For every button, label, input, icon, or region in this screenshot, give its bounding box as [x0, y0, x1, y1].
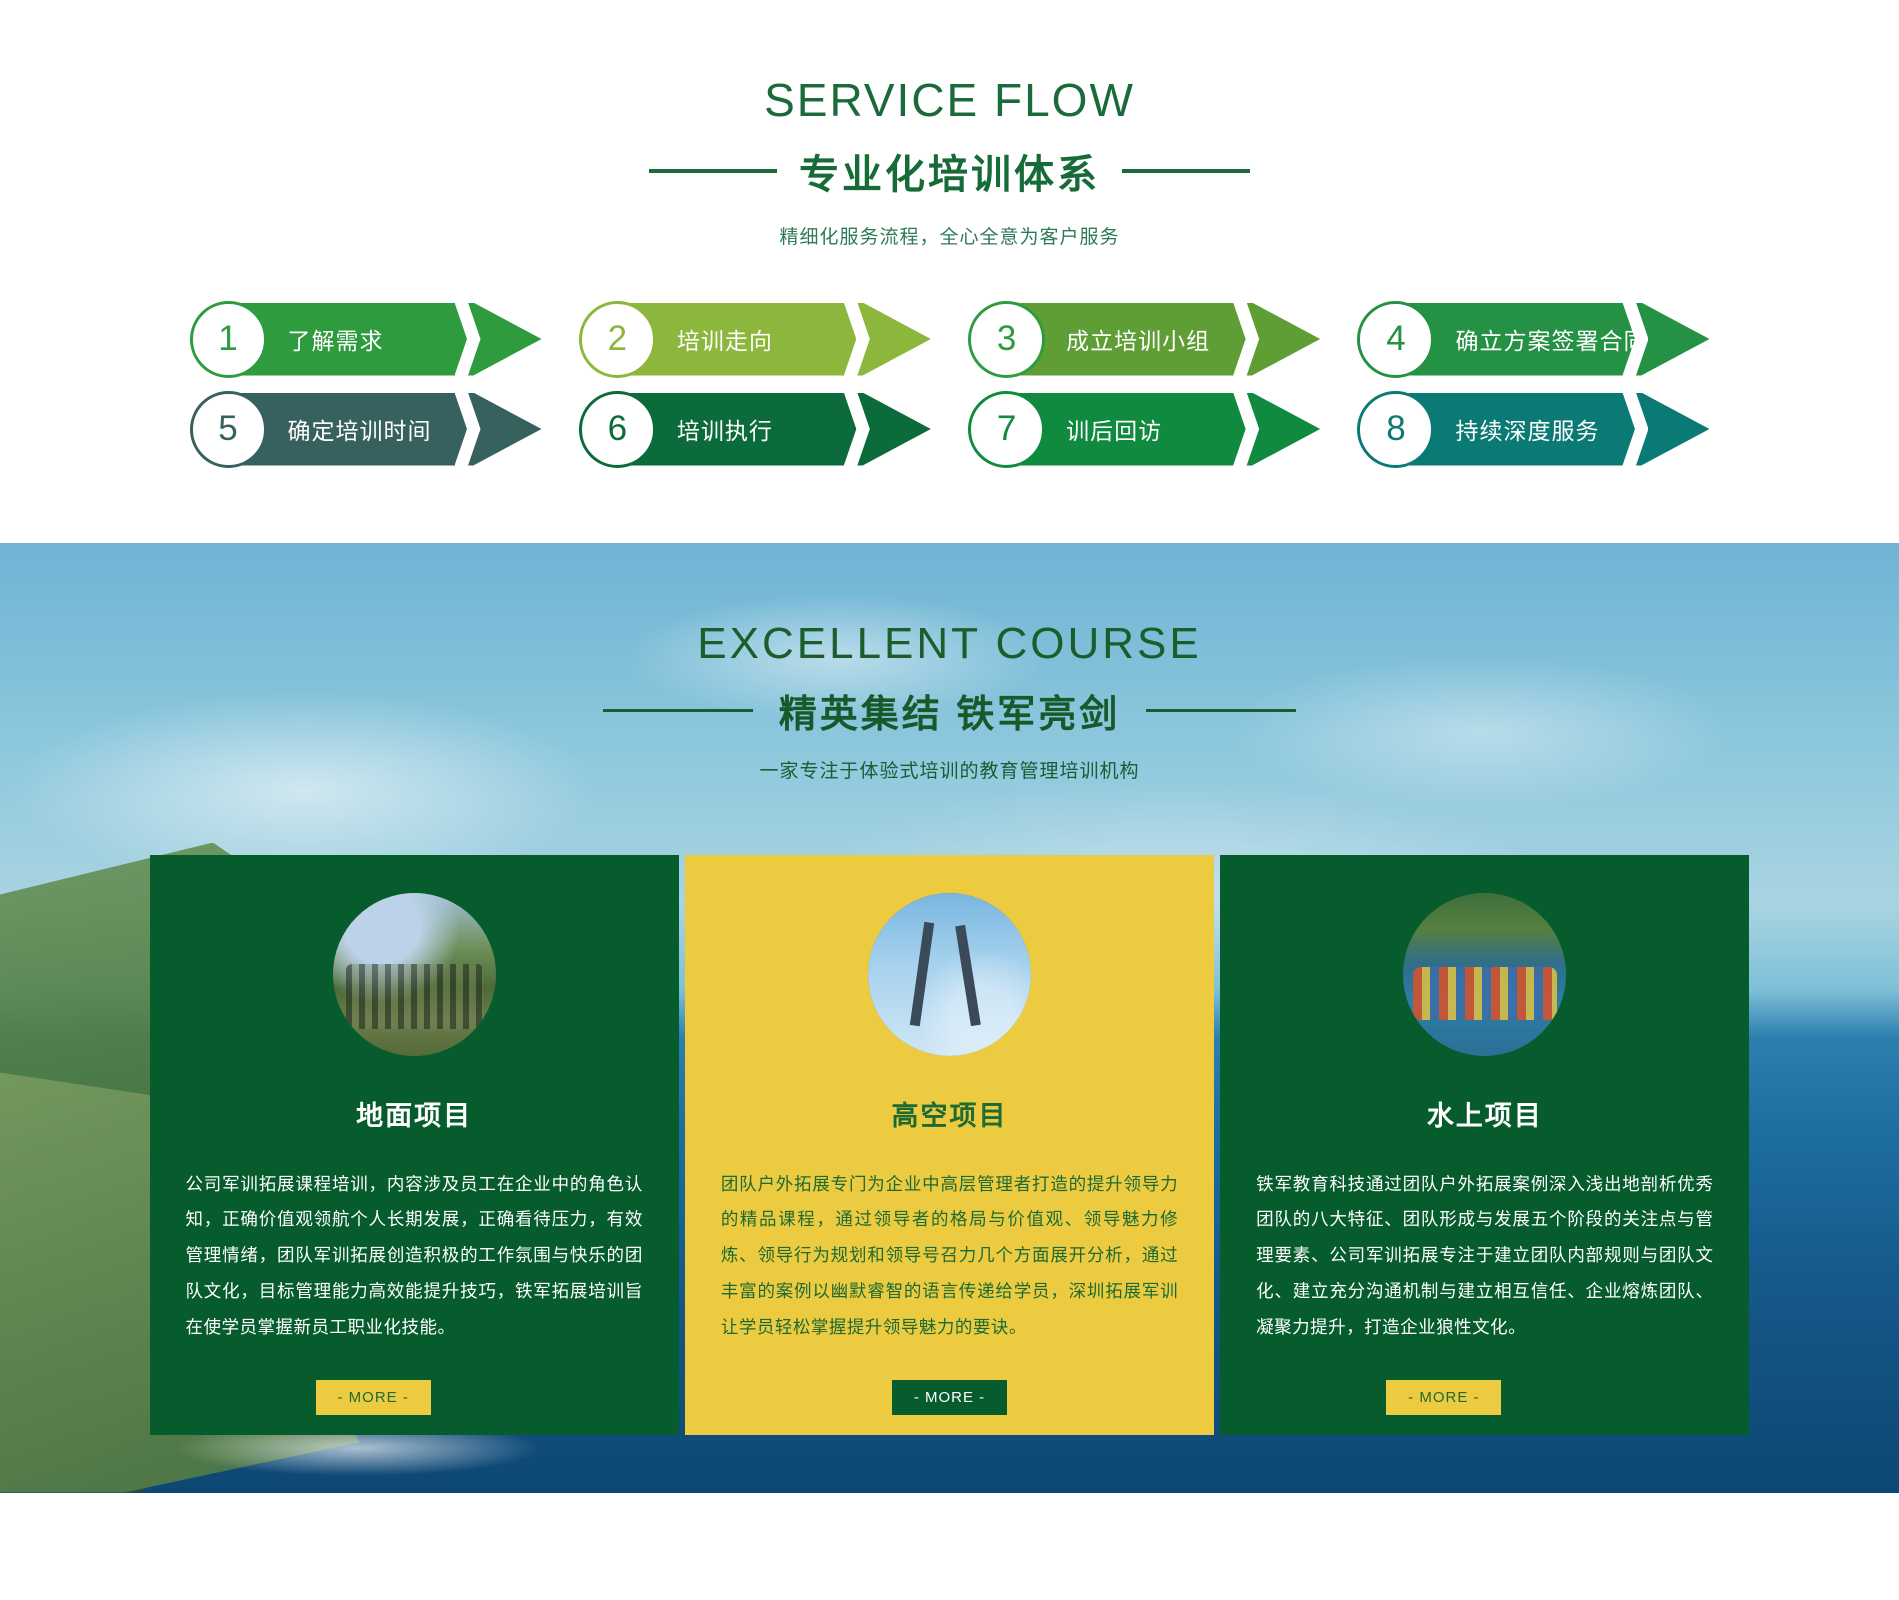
- process-step-6[interactable]: 6 培训执行: [579, 393, 931, 466]
- service-flow-section: SERVICE FLOW 专业化培训体系 精细化服务流程，全心全意为客户服务 1…: [0, 0, 1899, 543]
- step-number-badge: 4: [1357, 301, 1434, 378]
- card-action-row: - MORE -: [1256, 1380, 1713, 1415]
- page-root: SERVICE FLOW 专业化培训体系 精细化服务流程，全心全意为客户服务 1…: [0, 0, 1899, 1493]
- step-label: 确立方案签署合同: [1455, 303, 1647, 376]
- step-label: 确定培训时间: [288, 393, 432, 466]
- course-card-highaltitude[interactable]: 高空项目 团队户外拓展专门为企业中高层管理者打造的提升领导力的精品课程，通过领导…: [685, 855, 1214, 1435]
- section-title-cn: 专业化培训体系: [799, 142, 1100, 200]
- course-cards: 地面项目 公司军训拓展课程培训，内容涉及员工在企业中的角色认知，正确价值观领航个…: [150, 855, 1750, 1435]
- section-subtitle: 精细化服务流程，全心全意为客户服务: [0, 222, 1899, 249]
- rule-left: [649, 169, 777, 173]
- step-number-badge: 7: [968, 391, 1045, 468]
- process-step-3[interactable]: 3 成立培训小组: [968, 303, 1320, 376]
- section-title-en: EXCELLENT COURSE: [0, 619, 1899, 669]
- rule-left: [603, 709, 753, 712]
- excellent-course-section: EXCELLENT COURSE 精英集结 铁军亮剑 一家专注于体验式培训的教育…: [0, 543, 1899, 1493]
- card-title: 水上项目: [1256, 1094, 1713, 1133]
- step-label: 成立培训小组: [1066, 303, 1210, 376]
- water-sports-photo: [1403, 893, 1566, 1056]
- card-action-row: - MORE -: [721, 1380, 1178, 1415]
- process-step-4[interactable]: 4 确立方案签署合同: [1357, 303, 1709, 376]
- card-action-row: - MORE -: [186, 1380, 643, 1415]
- card-description: 团队户外拓展专门为企业中高层管理者打造的提升领导力的精品课程，通过领导者的格局与…: [721, 1167, 1178, 1346]
- process-step-2[interactable]: 2 培训走向: [579, 303, 931, 376]
- card-description: 铁军教育科技通过团队户外拓展案例深入浅出地剖析优秀团队的八大特征、团队形成与发展…: [1256, 1167, 1713, 1346]
- step-label: 培训走向: [677, 303, 773, 376]
- step-label: 持续深度服务: [1455, 393, 1599, 466]
- step-arrow-shape: [232, 303, 542, 376]
- section-title-cn-row: 精英集结 铁军亮剑: [0, 683, 1899, 738]
- step-number-badge: 6: [579, 391, 656, 468]
- card-title: 高空项目: [721, 1094, 1178, 1133]
- service-flow-header: SERVICE FLOW 专业化培训体系 精细化服务流程，全心全意为客户服务: [0, 72, 1899, 249]
- rule-right: [1122, 169, 1250, 173]
- rule-right: [1146, 709, 1296, 712]
- photo-water-layer: [1403, 893, 1566, 1056]
- more-button[interactable]: - MORE -: [1386, 1380, 1501, 1415]
- section-subtitle: 一家专注于体验式培训的教育管理培训机构: [0, 756, 1899, 783]
- excellent-course-header: EXCELLENT COURSE 精英集结 铁军亮剑 一家专注于体验式培训的教育…: [0, 543, 1899, 783]
- photo-ground-layer: [333, 893, 496, 1056]
- step-number-badge: 5: [190, 391, 267, 468]
- process-steps-row-2: 5 确定培训时间 6 培训执行 7 训后回访: [190, 393, 1710, 466]
- step-number-badge: 1: [190, 301, 267, 378]
- section-title-cn: 精英集结 铁军亮剑: [779, 683, 1121, 738]
- ground-training-photo: [333, 893, 496, 1056]
- process-steps: 1 了解需求 2 培训走向 3 成立培训小组: [190, 303, 1710, 466]
- section-title-en: SERVICE FLOW: [0, 72, 1899, 130]
- step-arrow-shape: [1010, 393, 1320, 466]
- course-card-ground[interactable]: 地面项目 公司军训拓展课程培训，内容涉及员工在企业中的角色认知，正确价值观领航个…: [150, 855, 679, 1435]
- step-label: 训后回访: [1066, 393, 1162, 466]
- process-steps-row-1: 1 了解需求 2 培训走向 3 成立培训小组: [190, 303, 1710, 376]
- photo-sky-layer: [868, 893, 1031, 1056]
- process-step-1[interactable]: 1 了解需求: [190, 303, 542, 376]
- high-altitude-photo: [868, 893, 1031, 1056]
- step-arrow-shape: [621, 303, 931, 376]
- card-title: 地面项目: [186, 1094, 643, 1133]
- section-title-cn-row: 专业化培训体系: [0, 142, 1899, 200]
- process-step-8[interactable]: 8 持续深度服务: [1357, 393, 1709, 466]
- more-button[interactable]: - MORE -: [892, 1380, 1007, 1415]
- process-step-5[interactable]: 5 确定培训时间: [190, 393, 542, 466]
- step-label: 了解需求: [288, 303, 384, 376]
- course-card-water[interactable]: 水上项目 铁军教育科技通过团队户外拓展案例深入浅出地剖析优秀团队的八大特征、团队…: [1220, 855, 1749, 1435]
- step-number-badge: 3: [968, 301, 1045, 378]
- step-label: 培训执行: [677, 393, 773, 466]
- card-description: 公司军训拓展课程培训，内容涉及员工在企业中的角色认知，正确价值观领航个人长期发展…: [186, 1167, 643, 1346]
- step-number-badge: 8: [1357, 391, 1434, 468]
- step-arrow-shape: [621, 393, 931, 466]
- more-button[interactable]: - MORE -: [316, 1380, 431, 1415]
- process-step-7[interactable]: 7 训后回访: [968, 393, 1320, 466]
- step-number-badge: 2: [579, 301, 656, 378]
